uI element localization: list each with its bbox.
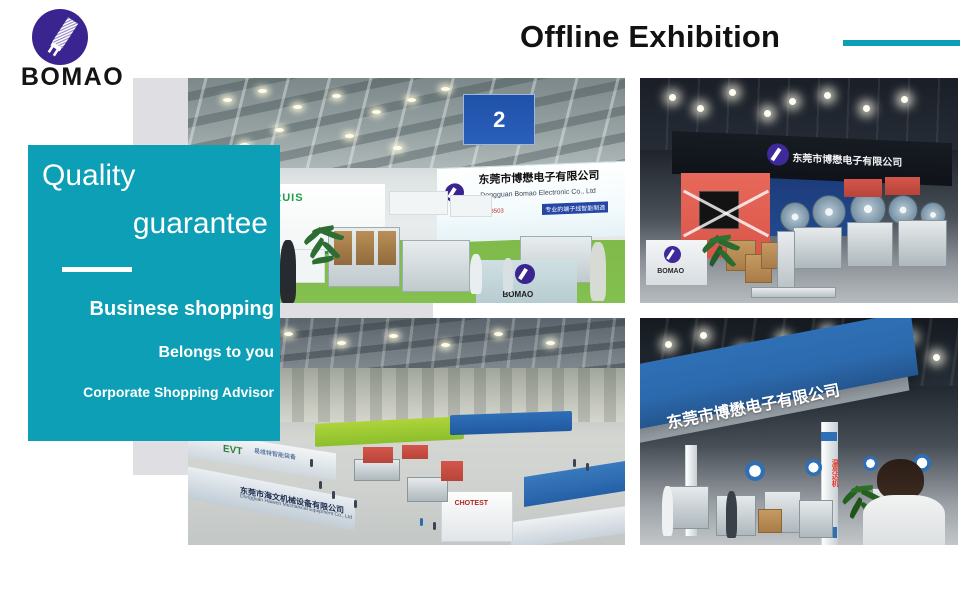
bomao-lamp-logo-icon (31, 8, 89, 66)
booth-chotest (441, 491, 513, 543)
hall-number-sign: 2 (463, 94, 535, 146)
callout-line-belongs: Belongs to you (28, 343, 274, 363)
decor-plant (700, 236, 740, 282)
decor-plant (302, 227, 348, 279)
slide-canvas: BOMAO Offline Exhibition 2 东莞市博懋电子有限公司 D… (0, 0, 960, 596)
callout-line-business: Businese shopping (28, 297, 274, 321)
banner-company-cn: 东莞市博懋电子有限公司 (478, 167, 599, 188)
booth-emblem-icon (805, 459, 822, 476)
bomao-desk-logo-icon (515, 264, 535, 284)
quality-callout-panel: Quality guarantee Businese shopping Belo… (28, 145, 280, 441)
booth-logo-icon (767, 142, 789, 165)
photo-top-right: 东莞市博懋电子有限公司 BOMA (640, 78, 958, 303)
visitor-foreground (863, 459, 946, 545)
callout-line-guarantee: guarantee (28, 207, 268, 241)
banner-tagline: 专业的端子线智能制造 (542, 201, 608, 215)
counter-wordmark: BOMAO (657, 268, 684, 275)
banner-company-en: Dongguan Bomao Electronic Co., Ltd (480, 188, 596, 199)
callout-line-quality: Quality (42, 159, 135, 193)
counter-logo-icon (664, 246, 681, 263)
booth-emblem-icon (745, 461, 765, 481)
brand-wordmark: BOMAO (10, 64, 135, 90)
page-title: Offline Exhibition (520, 18, 780, 56)
booth-reception-counter: BOMAO (646, 240, 706, 285)
booth-blue-canopy (450, 411, 572, 436)
title-accent-rule (843, 40, 960, 46)
brand-logo: BOMAO (10, 6, 135, 90)
photo-bottom-right: 东莞市博懋电子有限公司 温亮达机 (640, 318, 958, 545)
booth-chotest-label: CHOTEST (455, 500, 488, 507)
bomao-reception-desk: BOMAO (476, 260, 577, 303)
booth-white-right (511, 504, 625, 545)
callout-line-advisor: Corporate Shopping Advisor (28, 383, 274, 401)
pillar-label-cn: 温亮达机 (829, 459, 839, 487)
booth-company-cn: 东莞市博懋电子有限公司 (792, 148, 902, 168)
callout-divider (62, 267, 132, 272)
